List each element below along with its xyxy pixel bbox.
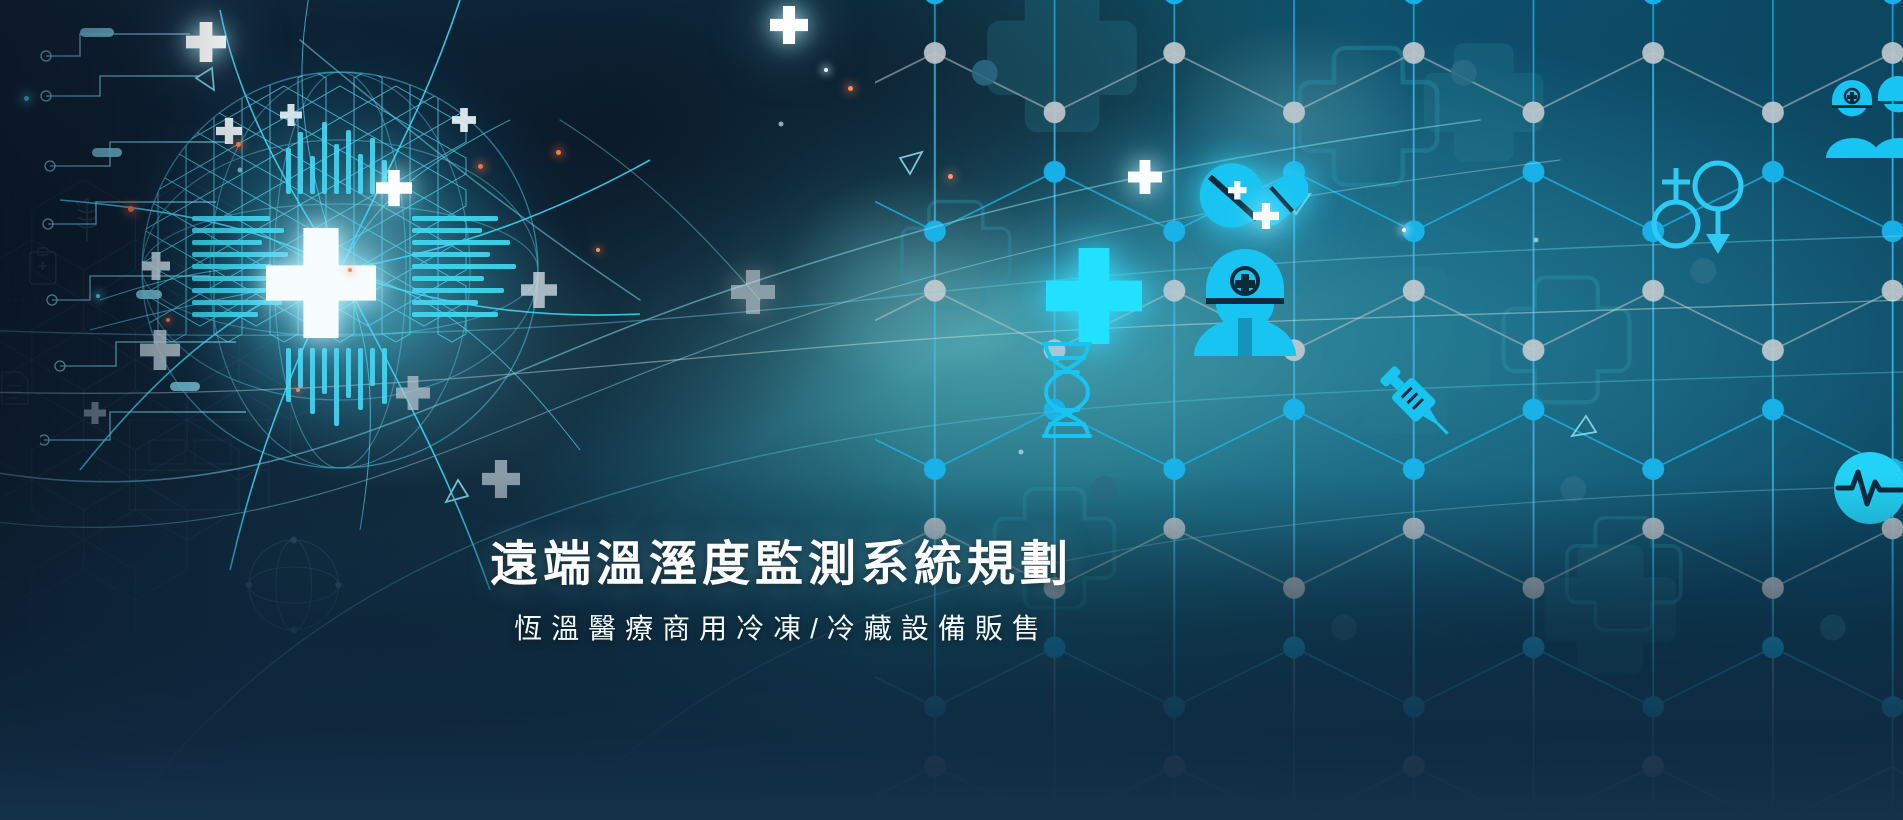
page-subtitle: 恆溫醫療商用冷凍/冷藏設備販售 bbox=[0, 612, 1563, 646]
page-title: 遠端溫溼度監測系統規劃 bbox=[0, 536, 1563, 594]
banner-text-block: 遠端溫溼度監測系統規劃 恆溫醫療商用冷凍/冷藏設備販售 bbox=[0, 536, 1903, 646]
bottom-fade-overlay bbox=[0, 0, 1903, 820]
hero-banner: 遠端溫溼度監測系統規劃 恆溫醫療商用冷凍/冷藏設備販售 bbox=[0, 0, 1903, 820]
